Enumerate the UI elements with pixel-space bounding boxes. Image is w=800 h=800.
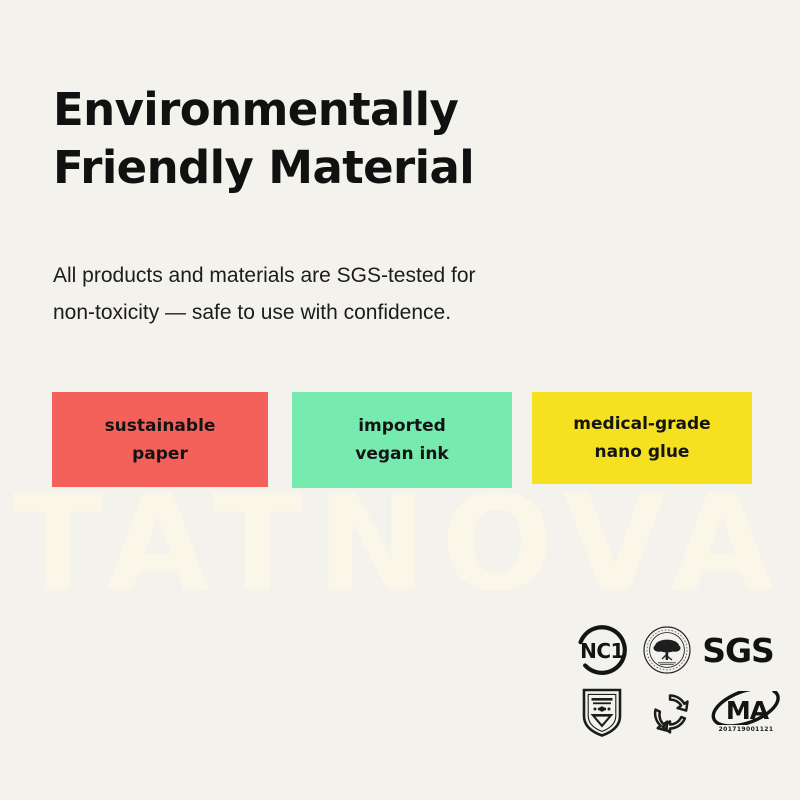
material-chip-glue-line-1: medical-grade	[573, 410, 710, 438]
brand-watermark: TATNOVA	[0, 478, 800, 610]
certification-badge-row-top: NC1	[572, 622, 772, 678]
environmentally-friendly-material-card: TATNOVA Environmentally Friendly Materia…	[0, 0, 800, 800]
material-chip-ink-line-2: vegan ink	[355, 440, 449, 468]
material-chip-glue-line-2: nano glue	[595, 438, 690, 466]
svg-text:MA: MA	[726, 696, 770, 725]
certification-badge-row-bottom: MA 201719001121	[572, 684, 772, 740]
material-chip-paper: sustainable paper	[52, 392, 268, 487]
cma-badge-icon: MA 201719001121	[710, 686, 782, 738]
recycling-badge-icon	[646, 688, 694, 736]
page-title: Environmentally Friendly Material	[53, 81, 713, 197]
cma-badge-number: 201719001121	[719, 726, 774, 733]
tree-seal-icon	[642, 625, 692, 675]
svg-text:NC1: NC1	[580, 639, 624, 663]
material-chip-paper-line-2: paper	[132, 440, 188, 468]
page-title-line-1: Environmentally	[53, 81, 713, 139]
material-chip-ink-line-1: imported	[358, 412, 446, 440]
nc1-badge-icon: NC1	[576, 624, 628, 676]
page-title-line-2: Friendly Material	[53, 139, 713, 197]
material-chip-ink: imported vegan ink	[292, 392, 512, 488]
certification-badge-group: NC1	[572, 622, 772, 752]
page-subtitle-line-1: All products and materials are SGS-teste…	[53, 257, 673, 294]
page-subtitle: All products and materials are SGS-teste…	[53, 257, 673, 331]
sgs-logo-label: SGS	[702, 634, 774, 667]
shield-badge-icon	[580, 686, 624, 738]
material-chip-list: sustainable paper imported vegan ink med…	[52, 392, 752, 492]
page-subtitle-line-2: non-toxicity — safe to use with confiden…	[53, 294, 673, 331]
material-chip-glue: medical-grade nano glue	[532, 392, 752, 484]
sgs-logo: SGS	[704, 630, 772, 670]
material-chip-paper-line-1: sustainable	[105, 412, 216, 440]
